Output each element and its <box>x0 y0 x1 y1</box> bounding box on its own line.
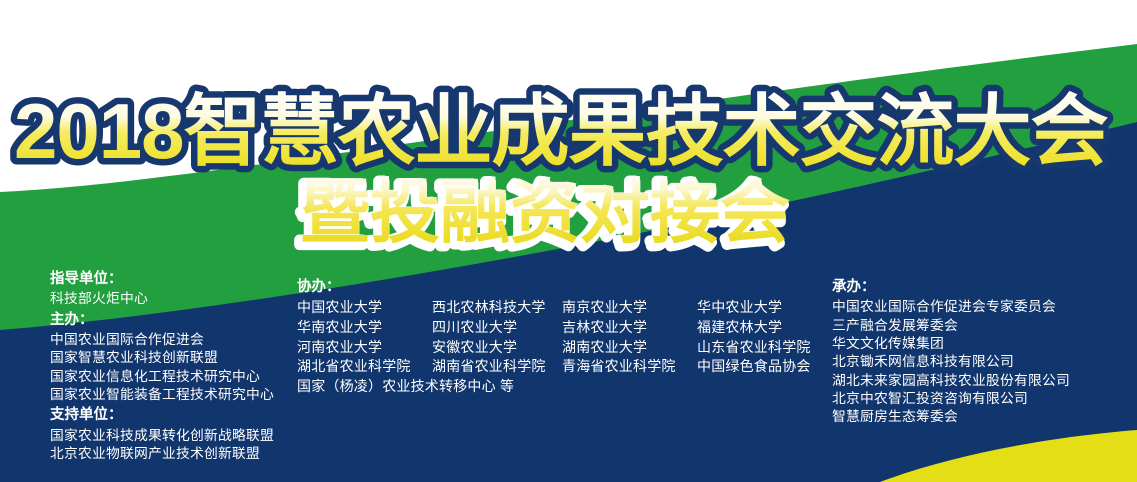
coorganizer-item: 华南农业大学 <box>297 318 432 337</box>
undertaker-item: 华文文化传媒集团 <box>832 335 1132 353</box>
coorganizer-item: 南京农业大学 <box>562 298 697 317</box>
coorganizer-item: 山东省农业科学院 <box>697 338 807 357</box>
coorganizer-item: 中国农业大学 <box>297 298 432 317</box>
credits-area: 指导单位： 科技部火炬中心 主办： 中国农业国际合作促进会 国家智慧农业科技创新… <box>0 262 1137 482</box>
credits-column-middle: 协办： 中国农业大学 西北农林科技大学 南京农业大学 华中农业大学 华南农业大学… <box>297 278 807 395</box>
undertaker-item: 北京中农智汇投资咨询有限公司 <box>832 390 1132 408</box>
coorganizer-grid: 中国农业大学 西北农林科技大学 南京农业大学 华中农业大学 华南农业大学 四川农… <box>297 298 807 395</box>
supporter-item: 北京农业物联网产业技术创新联盟 <box>50 445 300 463</box>
coorganizer-item-last: 国家（杨凌）农业技术转移中心 等 <box>297 377 807 396</box>
coorganizer-item: 湖北省农业科学院 <box>297 357 432 376</box>
coorganizer-item: 青海省农业科学院 <box>562 357 697 376</box>
coorganizer-item: 中国绿色食品协会 <box>697 357 807 376</box>
credits-column-right: 承办： 中国农业国际合作促进会专家委员会 三产融合发展筹委会 华文文化传媒集团 … <box>832 278 1132 427</box>
organizer-item: 国家农业信息化工程技术研究中心 <box>50 368 300 386</box>
coorganizer-item: 安徽农业大学 <box>432 338 562 357</box>
supporter-heading: 支持单位： <box>50 406 300 425</box>
organizer-item: 国家智慧农业科技创新联盟 <box>50 349 300 367</box>
undertaker-item: 北京锄禾网信息科技有限公司 <box>832 353 1132 371</box>
undertaker-item: 中国农业国际合作促进会专家委员会 <box>832 298 1132 316</box>
undertaker-item: 智慧厨房生态筹委会 <box>832 408 1132 426</box>
organizer-item: 中国农业国际合作促进会 <box>50 331 300 349</box>
coorganizer-item: 河南农业大学 <box>297 338 432 357</box>
conference-banner: 2018智慧农业成果技术交流大会 暨投融资对接会 暨投融资对接会 指导单位： 科… <box>0 0 1137 482</box>
organizer-heading: 主办： <box>50 311 300 330</box>
credits-column-left: 指导单位： 科技部火炬中心 主办： 中国农业国际合作促进会 国家智慧农业科技创新… <box>50 268 300 463</box>
coorganizer-heading: 协办： <box>297 278 807 297</box>
coorganizer-item: 西北农林科技大学 <box>432 298 562 317</box>
coorganizer-item: 吉林农业大学 <box>562 318 697 337</box>
undertaker-item: 三产融合发展筹委会 <box>832 317 1132 335</box>
coorganizer-item: 四川农业大学 <box>432 318 562 337</box>
undertaker-heading: 承办： <box>832 278 1132 297</box>
guidance-heading: 指导单位： <box>50 270 300 289</box>
coorganizer-item: 湖南农业大学 <box>562 338 697 357</box>
coorganizer-item: 华中农业大学 <box>697 298 807 317</box>
undertaker-item: 湖北未来家园高科技农业股份有限公司 <box>832 372 1132 390</box>
supporter-item: 国家农业科技成果转化创新战略联盟 <box>50 427 300 445</box>
coorganizer-item: 湖南省农业科学院 <box>432 357 562 376</box>
guidance-item: 科技部火炬中心 <box>50 290 300 308</box>
organizer-item: 国家农业智能装备工程技术研究中心 <box>50 386 300 404</box>
coorganizer-item: 福建农林大学 <box>697 318 807 337</box>
